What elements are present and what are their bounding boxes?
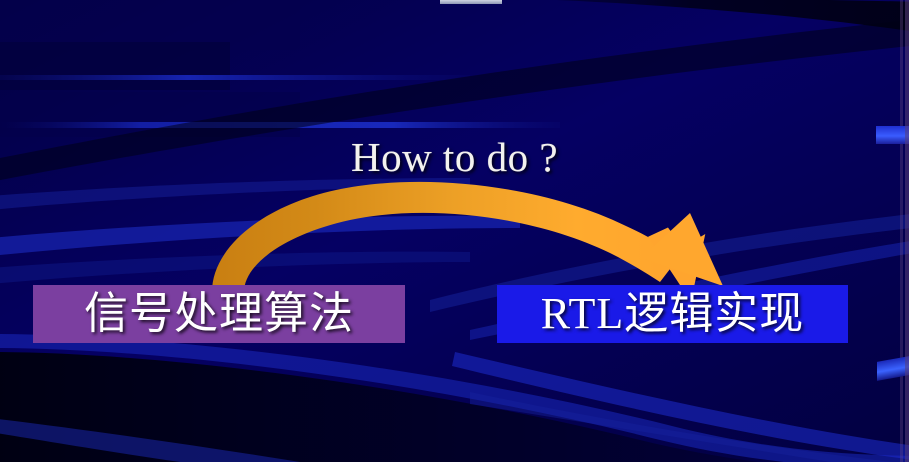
target-label-box[interactable]: RTL逻辑实现: [497, 285, 848, 343]
slide-background: [0, 0, 909, 462]
slide-title: How to do ?: [0, 133, 909, 181]
top-edge-marker: [440, 0, 502, 4]
right-edge-border: [905, 0, 909, 462]
source-label-box[interactable]: 信号处理算法: [33, 285, 405, 343]
target-label-text: RTL逻辑实现: [541, 292, 804, 336]
presentation-slide: How to do ? 信号处理算法 RTL逻辑实现: [0, 0, 909, 462]
source-label-text: 信号处理算法: [84, 292, 354, 336]
